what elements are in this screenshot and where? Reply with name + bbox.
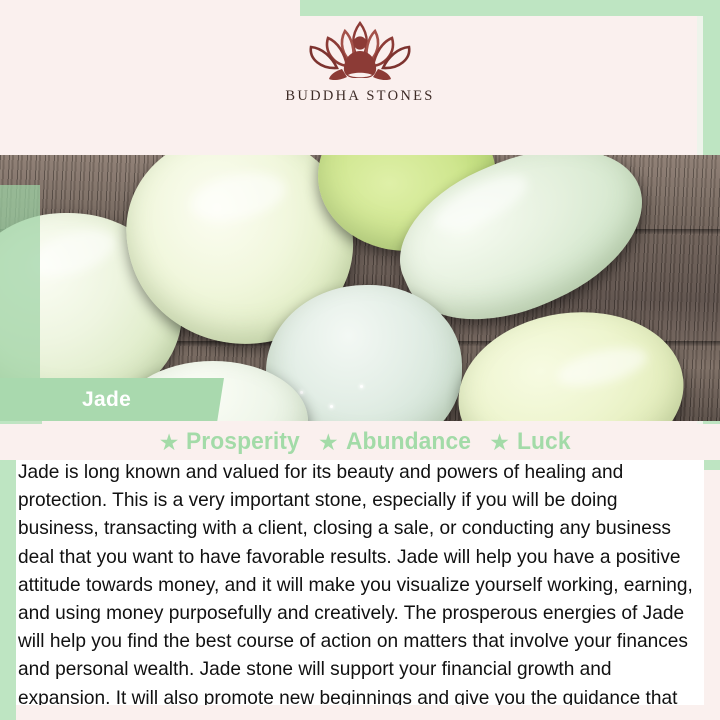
description-panel: Jade is long known and valued for its be…: [16, 458, 704, 705]
infographic-page: BUDDHA STONES Jade ★ Prosperity: [0, 0, 720, 720]
star-icon: ★: [159, 431, 180, 454]
lotus-meditation-icon: [285, 11, 435, 85]
stone-sparkle: [330, 405, 333, 408]
brand-name: BUDDHA STONES: [285, 88, 434, 105]
stone-sparkle: [360, 385, 363, 388]
benefits-row: ★ Prosperity ★ Abundance ★ Luck: [0, 424, 720, 460]
benefit-label: Luck: [517, 428, 571, 456]
description-text: Jade is long known and valued for its be…: [18, 458, 698, 720]
brand-header: BUDDHA STONES: [0, 0, 720, 112]
stone-name-label: Jade: [82, 388, 131, 412]
brand-logo: BUDDHA STONES: [285, 11, 435, 105]
stone-sparkle: [300, 391, 303, 394]
stone-name-band: Jade: [0, 378, 224, 421]
star-icon: ★: [318, 431, 339, 454]
benefit-label: Prosperity: [186, 428, 300, 456]
benefit-item: ★ Abundance: [306, 428, 477, 456]
description-panel-footer: [16, 705, 704, 720]
benefit-item: ★ Luck: [477, 428, 573, 456]
benefit-item: ★ Prosperity: [147, 428, 306, 456]
benefit-label: Abundance: [346, 428, 471, 456]
star-icon: ★: [489, 431, 510, 454]
